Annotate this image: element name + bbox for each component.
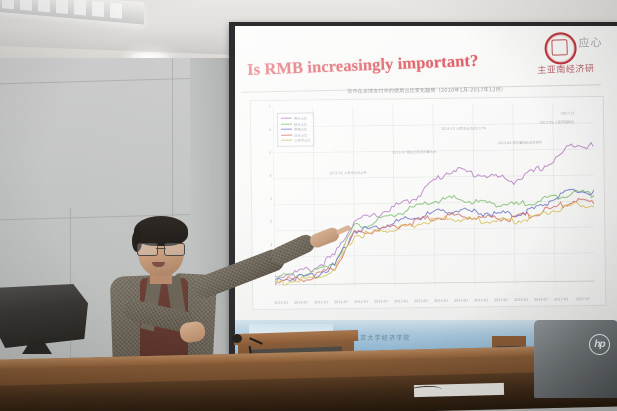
hp-monitor: hp [534, 320, 617, 398]
desk-eyeglasses-icon [408, 385, 442, 396]
x-tick: 2017-01 [554, 297, 568, 301]
chart-annotation: 2013-07 超过日元成为第七大 [392, 149, 437, 155]
microphone-head-icon [232, 334, 242, 343]
x-tick: 2012-07 [374, 299, 388, 303]
chart-annotation: 2017-09 人民币国际化 [540, 119, 575, 124]
x-tick: 2011-07 [334, 300, 348, 304]
x-tick: 2013-07 [414, 299, 428, 303]
y-tick: 5 [255, 151, 271, 155]
legend-swatch [281, 129, 292, 131]
x-tick: 2011-01 [314, 300, 328, 304]
legend-label: 美元占比 [294, 116, 307, 121]
hair [134, 216, 188, 246]
legend-swatch [281, 140, 292, 142]
chart-plot-area [273, 103, 595, 287]
x-tick: 2016-07 [534, 298, 548, 302]
legend-label: 人民币占比 [294, 138, 311, 143]
legend-label: 英镑占比 [294, 127, 307, 132]
y-tick: 4 [256, 174, 272, 178]
chart-annotation: 2012-02 人民币占比上升 [329, 170, 367, 175]
x-tick: 2014-07 [454, 299, 468, 303]
footer-caption: 北京大学经济学院 [353, 333, 411, 342]
chart-annotation: 2017-12 [561, 111, 575, 115]
x-tick: 2013-01 [394, 299, 408, 303]
lens-left [137, 243, 158, 256]
institute-logo: 应心 主亚南经济研 [534, 29, 612, 90]
legend-swatch [281, 134, 292, 136]
seal-icon [544, 32, 577, 65]
x-tick: 2017-07 [576, 297, 590, 301]
chart-gridlines [273, 103, 595, 287]
y-tick: 3 [256, 197, 272, 201]
legend-label: 日元占比 [294, 132, 307, 137]
chart-title: 货币在全球支付中的使用占比变化趋势（2010年1月-2017年12月） [251, 85, 603, 96]
chart-svg [273, 103, 595, 287]
legend-label: 欧元占比 [294, 121, 307, 126]
x-tick: 2015-01 [474, 298, 488, 302]
eyeglasses-icon [137, 243, 185, 254]
slide-chart: 货币在全球支付中的使用占比变化趋势（2010年1月-2017年12月） 7 6 … [250, 96, 607, 310]
logo-text-bottom: 主亚南经济研 [537, 61, 594, 76]
x-tick: 2016-01 [514, 298, 528, 302]
pointing-arm [190, 246, 288, 301]
x-tick: 2014-01 [434, 299, 448, 303]
slide-title: Is RMB increasingly important? [247, 48, 548, 80]
podium-monitor [0, 284, 88, 348]
lens-right [164, 243, 185, 256]
legend-item: 人民币占比 [281, 137, 311, 143]
x-tick: 2012-01 [354, 300, 368, 304]
lecture-photo-scene: Is RMB increasingly important? 应心 主亚南经济研… [0, 0, 617, 411]
desk-shadow [0, 370, 617, 411]
chart-legend: 美元占比欧元占比英镑占比日元占比人民币占比 [277, 112, 315, 146]
y-tick: 7 [255, 105, 271, 109]
legend-swatch [281, 123, 292, 125]
y-tick: 6 [255, 128, 271, 132]
chart-annotation: 2015-08 成为第四大支付货币 [498, 140, 543, 146]
logo-text-right: 应心 [578, 34, 603, 51]
chart-annotation: 2014-12 人民币占比达2.17% [441, 125, 486, 131]
x-tick: 2015-07 [494, 298, 508, 302]
hp-logo-icon: hp [589, 334, 610, 355]
legend-swatch [281, 118, 292, 120]
